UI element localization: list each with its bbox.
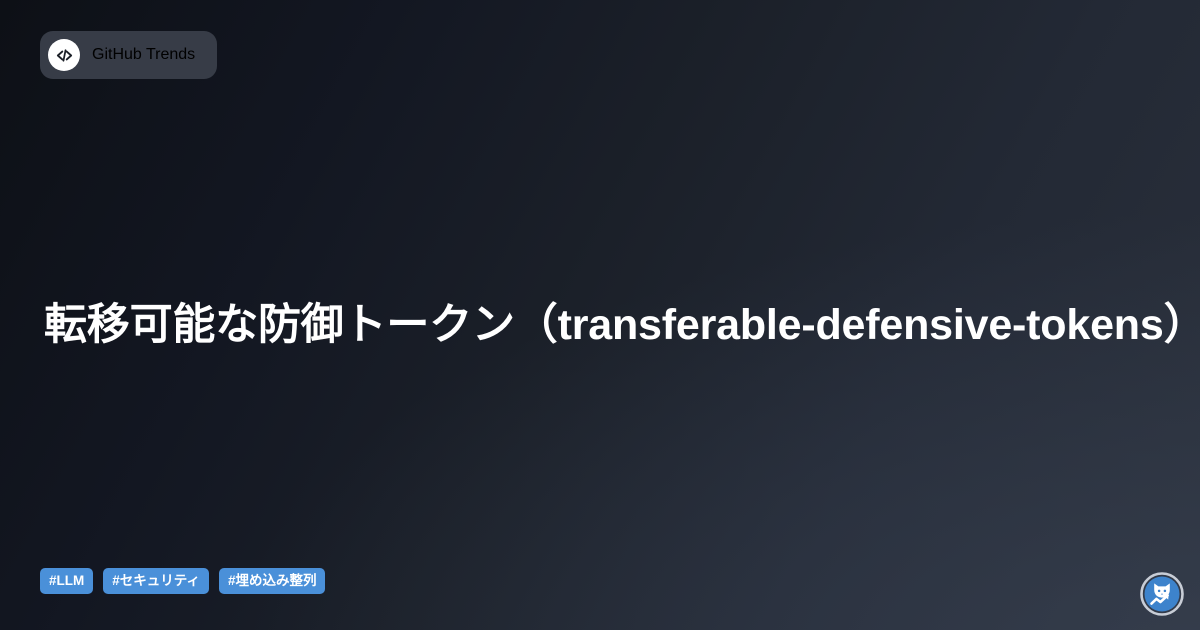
tag-list: #LLM #セキュリティ #埋め込み整列 xyxy=(40,568,325,595)
og-card: GitHub Trends 転移可能な防御トークン（transferable-d… xyxy=(0,0,1200,630)
tag-item[interactable]: #LLM xyxy=(40,568,93,595)
brand-label: GitHub Trends xyxy=(92,46,195,64)
page-title: 転移可能な防御トークン（transferable-defensive-token… xyxy=(44,298,1140,353)
tag-item[interactable]: #セキュリティ xyxy=(103,568,209,595)
tag-item[interactable]: #埋め込み整列 xyxy=(219,568,326,595)
code-brackets-icon xyxy=(48,39,80,71)
cat-trending-logo xyxy=(1140,572,1184,616)
brand-badge: GitHub Trends xyxy=(40,31,217,79)
